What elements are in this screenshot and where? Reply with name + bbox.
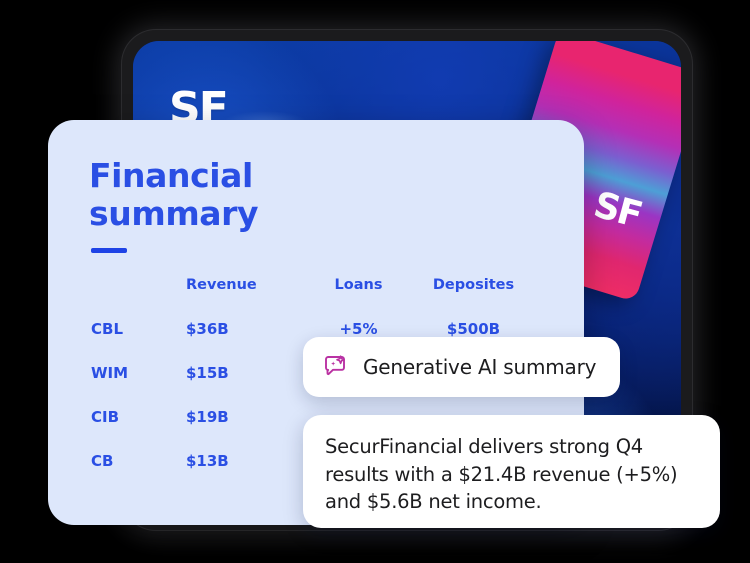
row-label: CIB [76, 408, 186, 426]
generative-ai-summary-label: Generative AI summary [363, 355, 596, 379]
table-header-row: Revenue Loans Deposites [76, 263, 556, 307]
row-revenue: $13B [186, 452, 306, 470]
ai-summary-card: SecurFinancial delivers strong Q4 result… [303, 415, 720, 528]
row-revenue: $36B [186, 320, 306, 338]
column-header-revenue: Revenue [186, 277, 306, 293]
row-deposites: $500B [411, 320, 536, 338]
ai-summary-text: SecurFinancial delivers strong Q4 result… [325, 433, 694, 516]
credit-card-sf-logo: SF [590, 187, 644, 234]
chat-sparkle-icon [323, 354, 349, 380]
generative-ai-summary-chip[interactable]: Generative AI summary [303, 337, 620, 397]
row-label: CBL [76, 320, 186, 338]
row-revenue: $15B [186, 364, 306, 382]
column-header-loans: Loans [306, 277, 411, 293]
row-loans: +5% [306, 320, 411, 338]
row-label: CB [76, 452, 186, 470]
title-underline-rule [91, 248, 127, 253]
row-label: WIM [76, 364, 186, 382]
page-title: Financial summary [89, 157, 258, 234]
row-revenue: $19B [186, 408, 306, 426]
column-header-deposites: Deposites [411, 277, 536, 293]
